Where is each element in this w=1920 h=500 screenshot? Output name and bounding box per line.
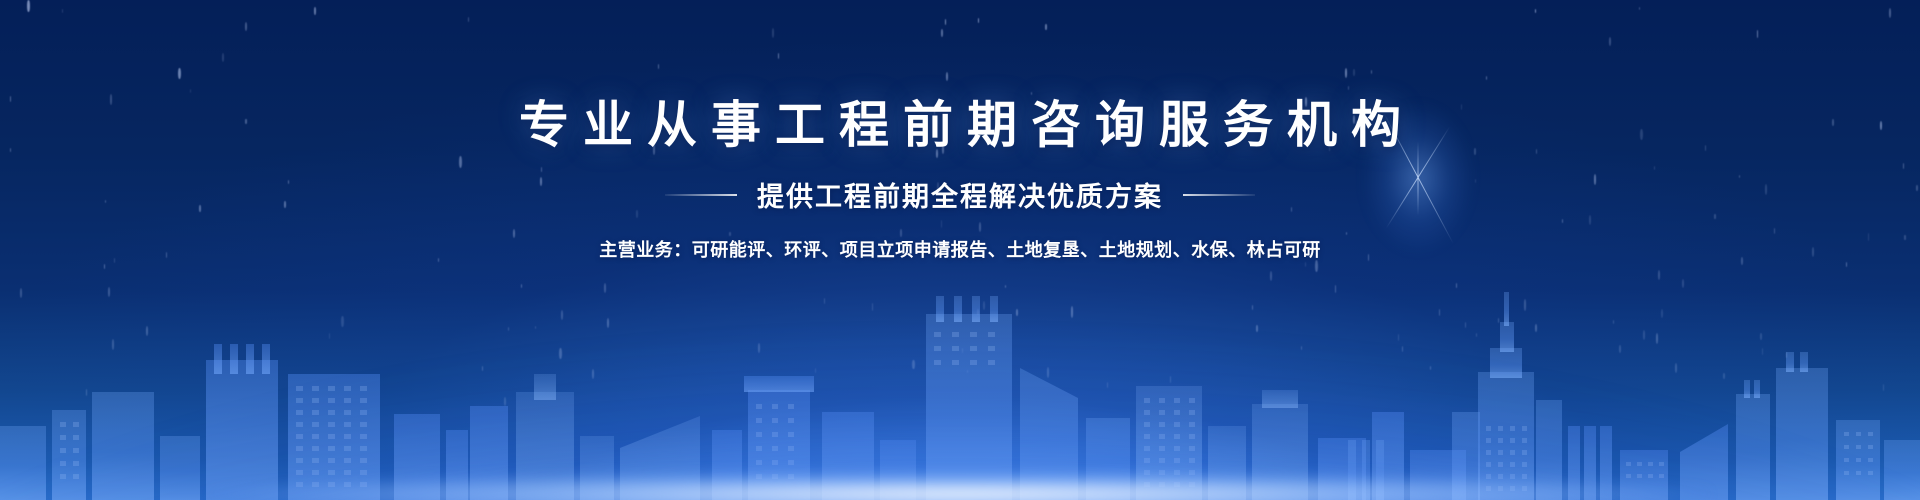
star-particle [1305, 262, 1306, 268]
star-particle [1016, 309, 1018, 316]
star-particle [1619, 345, 1621, 353]
star-particle [1348, 86, 1349, 90]
star-particle [504, 397, 506, 406]
star-particle [983, 301, 985, 310]
business-scope-text: 主营业务：可研能评、环评、项目立项申请报告、土地复垦、土地规划、水保、林占可研 [0, 236, 1920, 262]
star-particle [872, 303, 874, 311]
star-particle [1883, 384, 1885, 391]
star-particle [1757, 30, 1759, 39]
star-particle [607, 318, 609, 328]
star-particle [1047, 367, 1050, 378]
star-particle [561, 310, 563, 321]
star-particle [1613, 320, 1614, 325]
star-particle [1786, 352, 1787, 357]
star-particle [1270, 271, 1272, 281]
page-title: 专业从事工程前期咨询服务机构 [0, 96, 1920, 155]
star-particle [468, 17, 469, 22]
star-particle [1045, 24, 1047, 31]
star-particle [1476, 333, 1477, 337]
decorative-rule-left-icon [665, 194, 737, 196]
star-particle [1535, 324, 1537, 332]
star-particle [1353, 69, 1355, 77]
star-particle [1486, 76, 1487, 80]
star-particle [1005, 285, 1006, 288]
star-particle [482, 366, 483, 371]
star-particle [190, 89, 191, 93]
star-particle [104, 264, 105, 269]
star-particle [20, 288, 22, 298]
star-particle [1498, 318, 1499, 323]
star-particle [1524, 299, 1527, 311]
star-particle [912, 360, 914, 370]
star-particle [508, 327, 509, 331]
star-particle [559, 348, 561, 359]
star-particle [1889, 8, 1891, 18]
star-particle [521, 284, 522, 288]
star-particle [1371, 70, 1372, 74]
star-particle [815, 368, 816, 373]
horizon-highlight [210, 472, 1710, 500]
star-particle [1456, 283, 1457, 288]
star-particle [967, 370, 968, 373]
star-particle [1031, 92, 1032, 95]
star-particle [1846, 262, 1847, 267]
star-particle [1465, 322, 1466, 328]
star-particle [1760, 333, 1762, 340]
star-particle [1345, 68, 1347, 79]
star-particle [62, 9, 63, 13]
star-particle [341, 316, 343, 327]
star-particle [1107, 382, 1108, 387]
star-particle [1071, 306, 1074, 318]
star-particle [1170, 376, 1171, 383]
star-particle [1675, 363, 1677, 373]
star-particle [245, 22, 247, 31]
hero-banner: 专业从事工程前期咨询服务机构 提供工程前期全程解决优质方案 主营业务：可研能评、… [0, 0, 1920, 500]
banner-content: 专业从事工程前期咨询服务机构 提供工程前期全程解决优质方案 主营业务：可研能评、… [0, 96, 1920, 262]
star-particle [1661, 309, 1663, 319]
star-particle [27, 0, 30, 11]
star-particle [112, 339, 114, 350]
star-particle [1643, 330, 1645, 340]
star-particle [1252, 305, 1253, 311]
star-particle [758, 343, 760, 353]
star-particle [778, 53, 779, 59]
star-particle [1402, 346, 1403, 353]
star-particle [978, 18, 979, 23]
star-particle [108, 287, 110, 297]
star-particle [1682, 279, 1684, 288]
star-particle [824, 298, 825, 305]
star-particle [1723, 373, 1725, 380]
star-particle [86, 389, 88, 396]
star-particle [1256, 325, 1258, 332]
page-subtitle: 提供工程前期全程解决优质方案 [757, 175, 1163, 214]
star-particle [772, 28, 774, 37]
star-particle [1301, 346, 1302, 350]
star-particle [1639, 7, 1640, 11]
star-particle [604, 283, 606, 293]
star-particle [314, 7, 316, 15]
star-particle [535, 326, 536, 329]
star-particle [977, 309, 978, 315]
star-particle [1335, 285, 1337, 293]
star-particle [1656, 333, 1659, 345]
star-particle [658, 64, 659, 69]
star-particle [222, 53, 224, 61]
star-particle [1609, 37, 1611, 46]
star-particle [146, 326, 148, 336]
star-particle [945, 19, 946, 26]
earth-horizon-glow [0, 320, 1920, 500]
star-particle [178, 68, 181, 79]
decorative-rule-right-icon [1183, 194, 1255, 196]
city-skyline-silhouette [0, 240, 1920, 500]
star-particle [1398, 334, 1400, 341]
star-particle [1762, 348, 1764, 356]
star-particle [946, 72, 948, 81]
star-particle [962, 348, 963, 353]
star-particle [592, 369, 594, 379]
star-particle [1658, 270, 1660, 280]
star-particle [1535, 9, 1536, 13]
star-particle [1430, 366, 1431, 370]
star-particle [1439, 309, 1441, 316]
star-particle [941, 29, 943, 38]
star-particle [329, 333, 330, 339]
subtitle-row: 提供工程前期全程解决优质方案 [0, 175, 1920, 214]
